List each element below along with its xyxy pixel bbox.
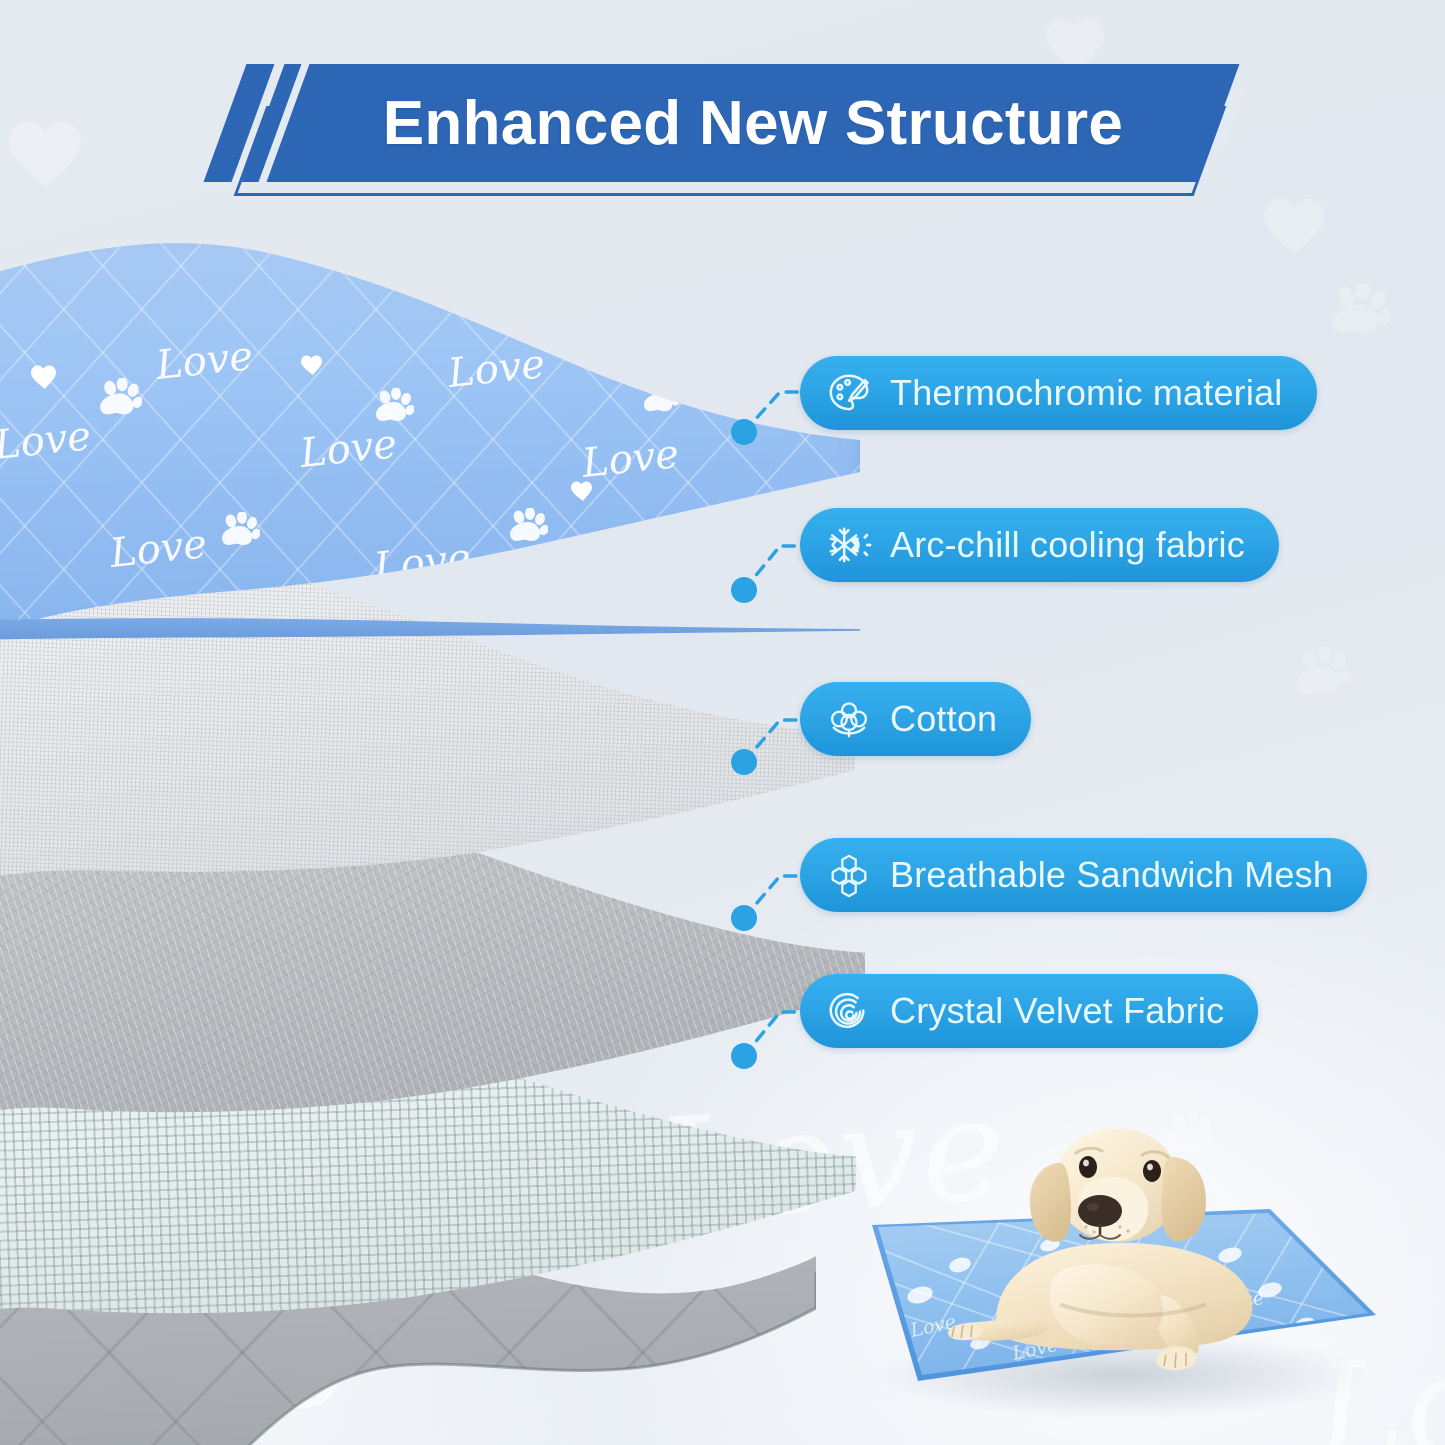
feature-pill-crystal-velvet[interactable]: Crystal Velvet Fabric — [800, 974, 1258, 1048]
feature-pill-cotton[interactable]: Cotton — [800, 682, 1031, 756]
snowflake-sun-icon — [826, 522, 872, 568]
feature-label-list: Thermochromic material — [0, 0, 1445, 1445]
feature-pill-arc-chill[interactable]: Arc-chill cooling fabric — [800, 508, 1279, 582]
feature-pill-label: Breathable Sandwich Mesh — [890, 857, 1333, 893]
feature-pill-label: Cotton — [890, 701, 997, 737]
cotton-boll-icon — [826, 696, 872, 742]
swirl-icon — [826, 988, 872, 1034]
honeycomb-icon — [826, 852, 872, 898]
palette-icon — [826, 370, 872, 416]
feature-pill-label: Thermochromic material — [890, 375, 1283, 411]
infographic-canvas: Love Love Love Enhanced New Structure — [0, 0, 1445, 1445]
feature-pill-label: Crystal Velvet Fabric — [890, 993, 1224, 1029]
feature-pill-thermochromic[interactable]: Thermochromic material — [800, 356, 1317, 430]
feature-pill-label: Arc-chill cooling fabric — [890, 527, 1245, 563]
feature-pill-sandwich-mesh[interactable]: Breathable Sandwich Mesh — [800, 838, 1367, 912]
